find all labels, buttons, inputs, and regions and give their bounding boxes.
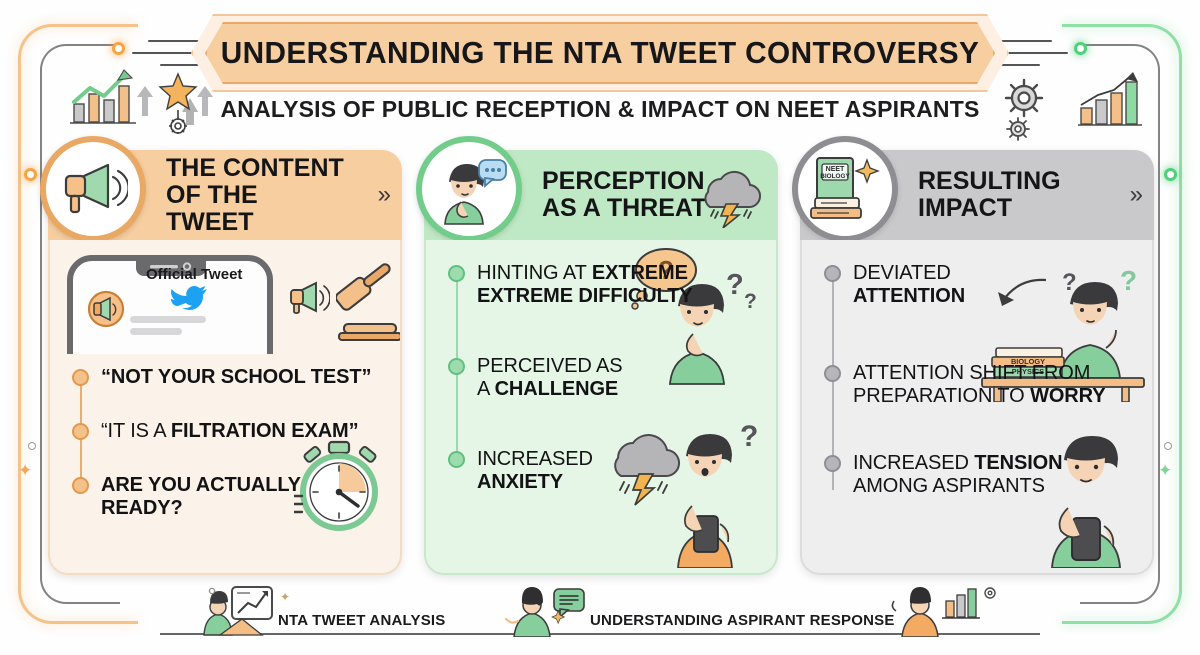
person-speech-bubble-icon	[502, 585, 596, 637]
svg-text:?: ?	[740, 420, 758, 453]
list-item[interactable]: “NOT YOUR SCHOOL TEST”	[72, 366, 371, 389]
card-badge: NEET BIOLOGY	[792, 136, 898, 242]
card-body: Official Tweet	[48, 240, 402, 575]
list-item[interactable]: ARE YOU ACTUALLY READY?	[72, 474, 316, 520]
frame-node-icon	[112, 42, 125, 55]
ribbon-inner-shape: UNDERSTANDING THE NTA TWEET CONTROVERSY	[205, 22, 995, 84]
card-content-of-tweet[interactable]: THE CONTENT OF THE TWEET »	[48, 150, 402, 575]
bullet-text: HINTING AT	[477, 262, 592, 284]
infographic-canvas: ✦ ✦ UNDERSTANDING THE NTA TWEET CONTROVE…	[0, 0, 1200, 655]
bullet-text-tail: AMONG ASPIRANTS	[853, 475, 1045, 497]
neet-biology-books-icon: NEET BIOLOGY	[805, 154, 885, 224]
list-item[interactable]: INCREASED TENSION AMONG ASPIRANTS	[824, 452, 1093, 498]
bullet-text-bold: ATTENTION	[853, 285, 965, 307]
title-ribbon: UNDERSTANDING THE NTA TWEET CONTROVERSY	[205, 22, 995, 84]
bullet-text-bold: CHALLENGE	[495, 378, 619, 400]
svg-text:?: ?	[726, 269, 744, 301]
footer-label-1: NTA TWEET ANALYSIS	[278, 612, 446, 629]
card-body: ? ? BIOLOGY PHYSICS	[800, 240, 1154, 575]
list-item[interactable]: DEVIATED ATTENTION	[824, 262, 1003, 308]
frame-node-icon	[1074, 42, 1087, 55]
worried-person-phone-icon: ?	[606, 412, 768, 568]
card-title: THE CONTENT OF THE TWEET	[166, 155, 351, 236]
bullet-dot-icon	[72, 369, 89, 386]
bullet-dot-icon	[824, 265, 841, 282]
list-item[interactable]: ATTENTION SHIFT FROM PREPARATION TO WORR…	[824, 362, 1131, 408]
gear-small-icon	[1004, 115, 1032, 143]
footer: ✦ NTA TWEET ANALYSIS UNDERSTANDING ASPIR…	[150, 585, 1050, 641]
storm-cloud-lightning-icon	[690, 162, 764, 228]
chart-person-icon: ✦	[198, 585, 298, 637]
megaphone-small-icon	[288, 280, 330, 316]
gavel-icon	[336, 262, 402, 348]
list-item[interactable]: PERCEIVED AS A CHALLENGE	[448, 355, 637, 401]
bullet-dot-icon	[824, 365, 841, 382]
list-item[interactable]: “IT IS A FILTRATION EXAM”	[72, 420, 359, 443]
bullet-text-bold: FILTRATION EXAM”	[171, 420, 359, 442]
bullet-text: ARE YOU ACTUALLY READY?	[101, 474, 301, 519]
page-title: UNDERSTANDING THE NTA TWEET CONTROVERSY	[221, 35, 979, 71]
bullet-text: INCREASED	[853, 452, 974, 474]
svg-text:?: ?	[744, 290, 757, 313]
svg-text:?: ?	[1120, 265, 1137, 296]
card-badge	[416, 136, 522, 242]
up-arrow-icon	[136, 84, 154, 118]
list-item[interactable]: INCREASED ANXIETY	[448, 448, 617, 494]
megaphone-icon	[58, 160, 128, 218]
up-arrow-icon	[196, 84, 214, 118]
bullet-dot-icon	[72, 423, 89, 440]
bullet-text-bold: TENSION	[974, 452, 1062, 474]
card-body: ? ? ?	[424, 240, 778, 575]
chevron-right-icon[interactable]: »	[1130, 181, 1138, 209]
card-title: RESULTING IMPACT	[918, 168, 1103, 222]
bullet-text: DEVIATED	[853, 262, 951, 284]
bullet-dot-icon	[72, 477, 89, 494]
card-perception-as-threat[interactable]: PERCEPTION AS A THREAT	[424, 150, 778, 575]
bullet-dot-icon	[448, 451, 465, 468]
bullet-text-bold: ANXIETY	[477, 471, 563, 493]
bullet-dot-icon	[448, 265, 465, 282]
bullet-text: “IT IS A	[101, 420, 171, 442]
tweet-account-label: Official Tweet	[146, 266, 242, 283]
bullet-dot-icon	[824, 455, 841, 472]
list-item[interactable]: HINTING AT EXTREME EXTREME DIFFICULTY	[448, 262, 721, 308]
cards-row: THE CONTENT OF THE TWEET »	[0, 150, 1200, 578]
thinking-person-icon	[429, 152, 509, 226]
bullet-text-bold: WORRY	[1030, 385, 1105, 407]
footer-label-2: UNDERSTANDING ASPIRANT RESPONSE	[590, 612, 895, 629]
chevron-right-icon[interactable]: »	[378, 181, 386, 209]
card-resulting-impact[interactable]: RESULTING IMPACT » NEET BIOLOGY	[800, 150, 1154, 575]
person-growth-chart-icon	[890, 585, 1000, 637]
svg-text:BIOLOGY: BIOLOGY	[820, 173, 850, 180]
card-badge	[40, 136, 146, 242]
bullet-text: INCREASED	[477, 448, 593, 470]
svg-text:NEET: NEET	[826, 166, 845, 173]
bar-chart-growth-icon	[68, 68, 138, 128]
bullet-text: “NOT YOUR SCHOOL TEST”	[101, 366, 371, 388]
bullet-dot-icon	[448, 358, 465, 375]
bar-chart-ascending-icon	[1076, 70, 1144, 130]
svg-text:✦: ✦	[280, 590, 290, 604]
